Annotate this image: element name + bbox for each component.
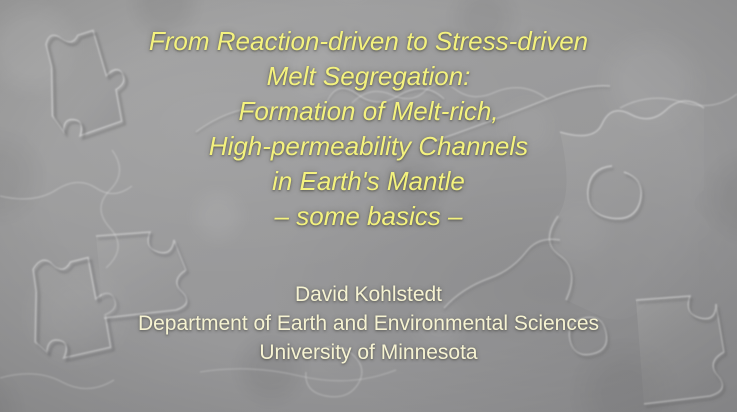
title-line: High-permeability Channels <box>149 129 588 164</box>
author-name: David Kohlstedt <box>138 280 599 309</box>
title-line: Melt Segregation: <box>149 59 588 94</box>
slide-author-affiliation: David Kohlstedt Department of Earth and … <box>138 280 599 367</box>
slide-title: From Reaction-driven to Stress-driven Me… <box>149 24 588 234</box>
author-department: Department of Earth and Environmental Sc… <box>138 309 599 338</box>
author-institution: University of Minnesota <box>138 338 599 367</box>
title-subtitle-line: – some basics – <box>149 199 588 234</box>
title-line: in Earth's Mantle <box>149 164 588 199</box>
presentation-title-slide: From Reaction-driven to Stress-driven Me… <box>0 0 737 412</box>
title-line: Formation of Melt-rich, <box>149 94 588 129</box>
title-line: From Reaction-driven to Stress-driven <box>149 24 588 59</box>
slide-text-content: From Reaction-driven to Stress-driven Me… <box>0 0 737 412</box>
